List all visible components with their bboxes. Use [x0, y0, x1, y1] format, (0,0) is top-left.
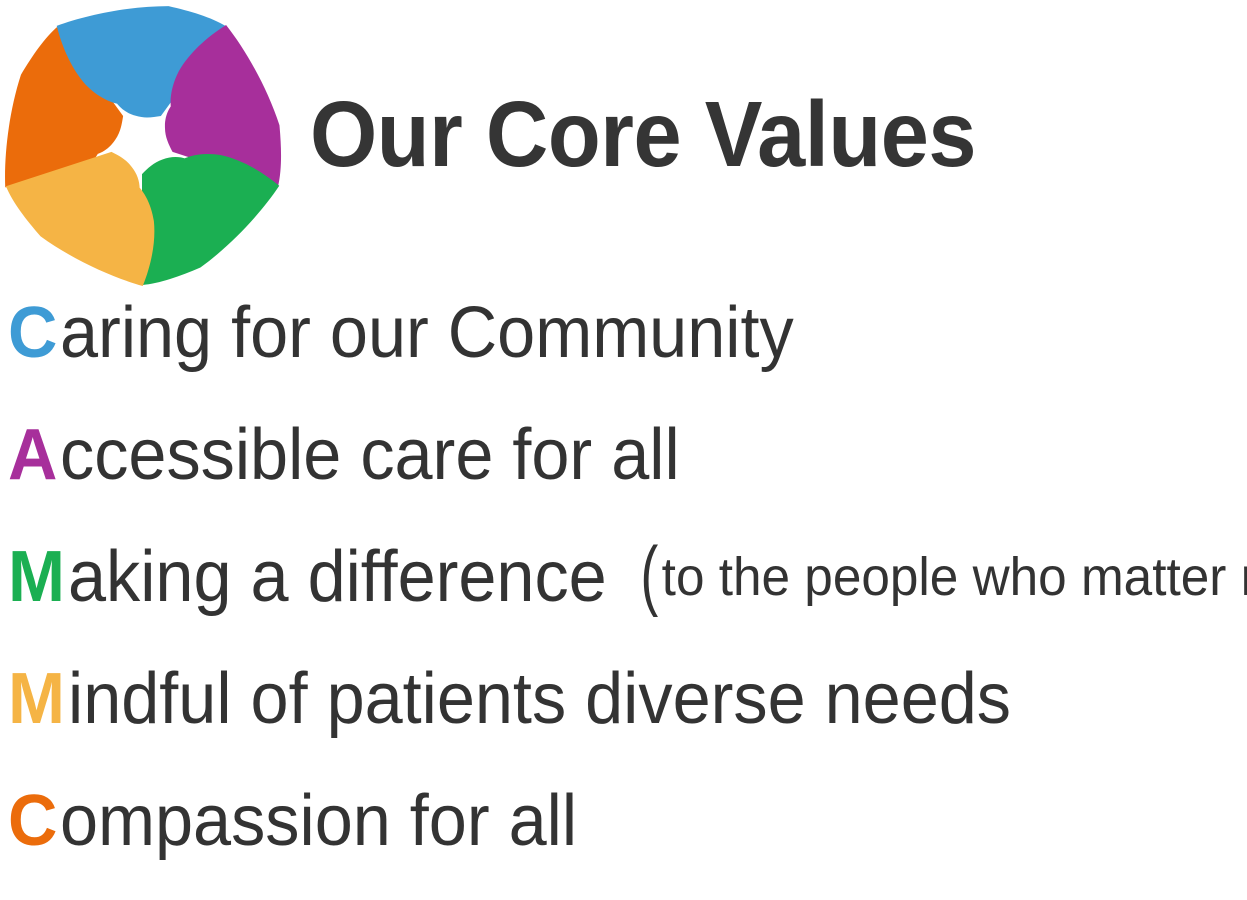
core-values-list: Caring for our Community Accessible care…: [0, 290, 1247, 900]
value-text: aring for our Community: [60, 290, 794, 376]
value-parenthetical: (to the people who matter most): [637, 534, 1247, 620]
value-text: ccessible care for all: [60, 412, 680, 498]
community-people-circle-logo-icon: [0, 0, 288, 290]
value-item-accessible: Accessible care for all: [0, 412, 1247, 534]
core-values-poster: Our Core Values Caring for our Community…: [0, 0, 1247, 857]
poster-header: Our Core Values: [0, 0, 1247, 290]
value-initial-letter: M: [8, 656, 65, 742]
value-initial-letter: C: [8, 778, 57, 864]
value-item-mindful: Mindful of patients diverse needs: [0, 656, 1247, 778]
value-item-making-a-difference: Making a difference (to the people who m…: [0, 534, 1247, 656]
value-item-compassion: Compassion for all: [0, 778, 1247, 900]
value-item-caring: Caring for our Community: [0, 290, 1247, 412]
value-initial-letter: A: [8, 412, 57, 498]
value-text: indful of patients diverse needs: [68, 656, 1011, 742]
value-text: ompassion for all: [60, 778, 577, 864]
value-text: aking a difference: [68, 534, 607, 620]
value-initial-letter: C: [8, 290, 57, 376]
page-title: Our Core Values: [310, 86, 976, 182]
value-parenthetical-text: to the people who matter most: [662, 547, 1247, 607]
logo-figure-green: [142, 154, 279, 285]
value-initial-letter: M: [8, 534, 65, 620]
